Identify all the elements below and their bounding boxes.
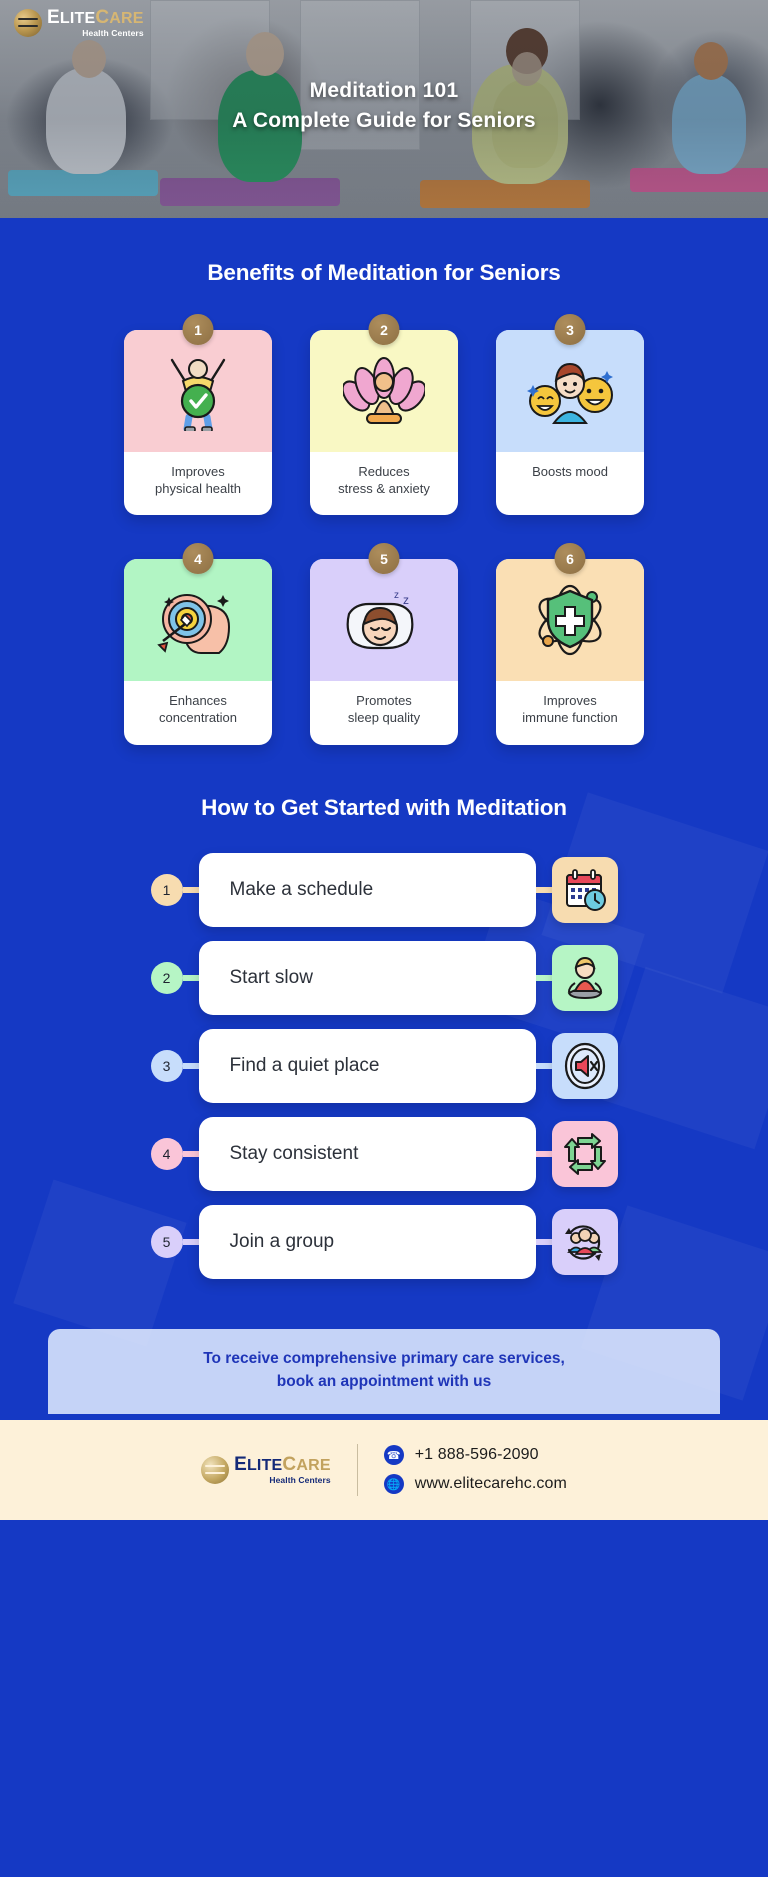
benefit-icon-tile — [496, 330, 644, 452]
logo-c: C — [282, 1454, 296, 1475]
benefit-label-line1: Improves — [130, 463, 266, 480]
benefit-label: Improves immune function — [496, 681, 644, 736]
logo-lite: LITE — [247, 1457, 282, 1474]
step-number-badge: 4 — [151, 1138, 183, 1170]
benefit-label: Reduces stress & anxiety — [310, 452, 458, 507]
cta-line2: book an appointment with us — [74, 1370, 694, 1394]
benefit-card[interactable]: 2 — [310, 330, 458, 515]
benefit-label-line2: physical health — [130, 480, 266, 497]
benefit-number-badge: 3 — [555, 314, 586, 345]
step-connector-right — [536, 1063, 552, 1069]
phone-icon: ☎ — [384, 1445, 404, 1465]
hero-title: Meditation 101 A Complete Guide for Seni… — [0, 76, 768, 136]
benefit-label: Boosts mood — [496, 452, 644, 490]
step-label: Join a group — [199, 1205, 536, 1279]
logo-tagline: Health Centers — [234, 1476, 331, 1485]
step-row[interactable]: 2 Start slow — [0, 941, 768, 1015]
benefit-label: Enhances concentration — [124, 681, 272, 736]
website-url: www.elitecarehc.com — [415, 1475, 567, 1493]
step-icon-tile — [552, 1033, 618, 1099]
cta-banner[interactable]: To receive comprehensive primary care se… — [48, 1329, 720, 1414]
brand-logo-header[interactable]: ELITECARE Health Centers — [14, 8, 144, 38]
benefit-card[interactable]: 1 — [124, 330, 272, 515]
step-row[interactable]: 3 Find a quiet place — [0, 1029, 768, 1103]
logo-lite: LITE — [60, 10, 95, 27]
step-connector-right — [536, 1239, 552, 1245]
svg-text:z: z — [394, 590, 399, 601]
benefit-label-line1: Boosts mood — [502, 463, 638, 480]
step-icon-tile — [552, 857, 618, 923]
step-icon-tile — [552, 1209, 618, 1275]
benefit-label-line2: stress & anxiety — [316, 480, 452, 497]
recycle-arrows-icon — [562, 1131, 608, 1177]
benefit-label-line2: immune function — [502, 709, 638, 726]
person-arms-raised-icon — [161, 351, 235, 431]
step-connector-left — [183, 975, 199, 981]
logo-e: E — [47, 7, 60, 28]
logo-mark-icon — [14, 9, 42, 37]
step-label: Make a schedule — [199, 853, 536, 927]
calendar-clock-icon — [562, 867, 608, 913]
footer: ELITECARE Health Centers ☎ +1 888-596-20… — [0, 1420, 768, 1520]
logo-c: C — [95, 7, 109, 28]
step-row[interactable]: 1 Make a schedule — [0, 853, 768, 927]
step-number-badge: 5 — [151, 1226, 183, 1258]
footer-divider — [357, 1444, 358, 1496]
benefit-card[interactable]: 3 — [496, 330, 644, 515]
benefit-label-line1: Promotes — [316, 692, 452, 709]
benefit-label-line1: Enhances — [130, 692, 266, 709]
smiling-faces-icon — [527, 355, 613, 427]
benefit-icon-tile — [310, 330, 458, 452]
step-connector-left — [183, 1239, 199, 1245]
logo-are: ARE — [296, 1457, 330, 1474]
step-icon-tile — [552, 1121, 618, 1187]
group-people-icon — [561, 1218, 609, 1266]
contact-website-row[interactable]: 🌐 www.elitecarehc.com — [384, 1474, 567, 1494]
sleeping-person-icon: z z Z — [339, 584, 429, 656]
benefit-icon-tile: z z Z — [310, 559, 458, 681]
mute-speaker-icon — [562, 1042, 608, 1090]
step-connector-left — [183, 1151, 199, 1157]
benefit-icon-tile — [496, 559, 644, 681]
infographic-page: ELITECARE Health Centers Meditation 101 … — [0, 0, 768, 1877]
hero-title-line2: A Complete Guide for Seniors — [0, 106, 768, 136]
logo-are: ARE — [109, 10, 143, 27]
logo-wordmark: ELITECARE Health Centers — [234, 1455, 331, 1485]
step-connector-left — [183, 887, 199, 893]
benefit-icon-tile — [124, 330, 272, 452]
meditating-person-icon — [563, 955, 607, 1001]
step-label: Find a quiet place — [199, 1029, 536, 1103]
step-row[interactable]: 4 Stay consistent — [0, 1117, 768, 1191]
svg-text:z: z — [403, 593, 409, 607]
benefit-label-line2: sleep quality — [316, 709, 452, 726]
target-head-focus-icon — [155, 583, 241, 657]
benefit-card[interactable]: 5 z z Z Promotes sleep quality — [310, 559, 458, 744]
step-row[interactable]: 5 Join a group — [0, 1205, 768, 1279]
benefits-grid: 1 — [0, 330, 768, 745]
benefit-label-line1: Reduces — [316, 463, 452, 480]
step-number-badge: 3 — [151, 1050, 183, 1082]
step-number-badge: 2 — [151, 962, 183, 994]
phone-number: +1 888-596-2090 — [415, 1446, 539, 1464]
logo-wordmark: ELITECARE Health Centers — [47, 8, 144, 38]
cta-line1: To receive comprehensive primary care se… — [74, 1347, 694, 1371]
contact-phone-row[interactable]: ☎ +1 888-596-2090 — [384, 1445, 567, 1465]
steps-section-title: How to Get Started with Meditation — [0, 745, 768, 821]
brand-logo-footer[interactable]: ELITECARE Health Centers — [201, 1455, 331, 1485]
benefit-label: Promotes sleep quality — [310, 681, 458, 736]
hero-title-line1: Meditation 101 — [310, 79, 459, 102]
logo-e: E — [234, 1454, 247, 1475]
lotus-meditation-icon — [343, 354, 425, 428]
footer-contacts: ☎ +1 888-596-2090 🌐 www.elitecarehc.com — [384, 1445, 567, 1494]
hero-banner: ELITECARE Health Centers Meditation 101 … — [0, 0, 768, 218]
step-connector-left — [183, 1063, 199, 1069]
step-number-badge: 1 — [151, 874, 183, 906]
benefit-number-badge: 1 — [183, 314, 214, 345]
main-content: Benefits of Meditation for Seniors 1 — [0, 218, 768, 1420]
step-label: Stay consistent — [199, 1117, 536, 1191]
step-icon-tile — [552, 945, 618, 1011]
benefit-label-line2: concentration — [130, 709, 266, 726]
benefit-card[interactable]: 6 Improves — [496, 559, 644, 744]
logo-tagline: Health Centers — [47, 29, 144, 38]
benefit-number-badge: 2 — [369, 314, 400, 345]
globe-icon: 🌐 — [384, 1474, 404, 1494]
benefit-card[interactable]: 4 Enhances — [124, 559, 272, 744]
steps-list: 1 Make a schedule — [0, 853, 768, 1311]
benefit-number-badge: 4 — [183, 543, 214, 574]
step-connector-right — [536, 975, 552, 981]
benefit-number-badge: 6 — [555, 543, 586, 574]
step-connector-right — [536, 887, 552, 893]
benefits-section-title: Benefits of Meditation for Seniors — [0, 218, 768, 286]
benefit-label-line1: Improves — [502, 692, 638, 709]
benefit-label: Improves physical health — [124, 452, 272, 507]
step-label: Start slow — [199, 941, 536, 1015]
step-connector-right — [536, 1151, 552, 1157]
benefit-number-badge: 5 — [369, 543, 400, 574]
immune-shield-atom-icon — [528, 581, 612, 659]
benefit-icon-tile — [124, 559, 272, 681]
logo-mark-icon — [201, 1456, 229, 1484]
